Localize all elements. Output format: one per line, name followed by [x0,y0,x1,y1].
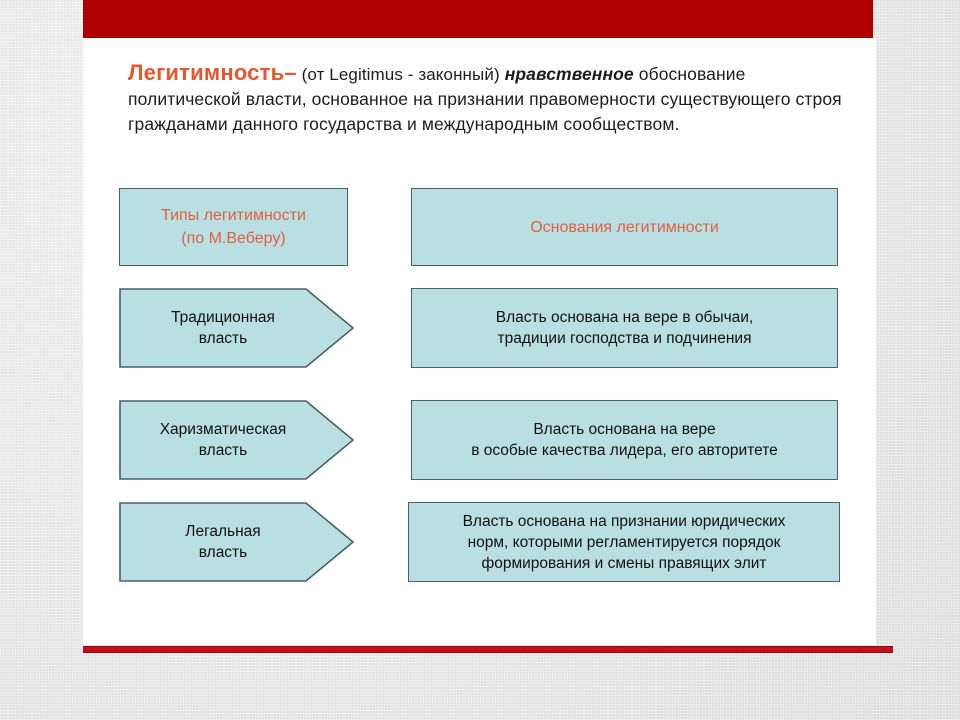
row-0-basis-line-2: традиции господства и подчинения [496,328,754,349]
row-2-basis-line-1: Власть основана на признании юридических [463,511,786,532]
definition-paragraph: Легитимность– (от Legitimus - законный) … [128,60,843,137]
type-chevron-charismatic-text: Харизматическая власть [123,419,323,461]
basis-box-charismatic-text: Власть основана на вере в особые качеств… [463,419,786,461]
row-2-basis-line-3: формирования и смены правящих элит [463,553,786,574]
row-1-type-line-1: Харизматическая [127,419,319,440]
row-1-basis-line-1: Власть основана на вере [471,419,778,440]
row-0-type-line-1: Традиционная [127,307,319,328]
basis-box-traditional-text: Власть основана на вере в обычаи, традиц… [488,307,762,349]
type-chevron-traditional-text: Традиционная власть [123,307,323,349]
basis-box-traditional: Власть основана на вере в обычаи, традиц… [411,288,838,368]
right-column-header-box: Основания легитимности [411,188,838,266]
row-0-basis-line-1: Власть основана на вере в обычаи, [496,307,754,328]
type-chevron-charismatic: Харизматическая власть [119,400,354,480]
row-1-basis-line-2: в особые качества лидера, его авторитете [471,440,778,461]
basis-box-legal-text: Власть основана на признании юридических… [455,511,794,574]
row-2-type-line-1: Легальная [127,521,319,542]
left-column-header-text: Типы легитимности (по М.Веберу) [153,204,314,250]
basis-box-legal: Власть основана на признании юридических… [408,502,840,582]
top-red-banner [83,0,873,38]
type-chevron-legal-text: Легальная власть [123,521,323,563]
right-column-header-text: Основания легитимности [522,216,727,239]
row-2-type-line-2: власть [127,542,319,563]
definition-emphasis: нравственное [505,64,634,84]
bottom-red-rule [83,646,893,653]
definition-dash: – [284,60,296,85]
left-header-line-2: (по М.Веберу) [161,227,306,250]
type-chevron-legal: Легальная власть [119,502,354,582]
row-1-type-line-2: власть [127,440,319,461]
definition-latin: (от Legitimus - законный) [302,65,500,84]
slide-content-card: Легитимность– (от Legitimus - законный) … [83,38,876,645]
left-column-header-box: Типы легитимности (по М.Веберу) [119,188,348,266]
type-chevron-traditional: Традиционная власть [119,288,354,368]
left-header-line-1: Типы легитимности [161,204,306,227]
row-0-type-line-2: власть [127,328,319,349]
basis-box-charismatic: Власть основана на вере в особые качеств… [411,400,838,480]
definition-term: Легитимность [128,60,284,85]
row-2-basis-line-2: норм, которыми регламентируется порядок [463,532,786,553]
